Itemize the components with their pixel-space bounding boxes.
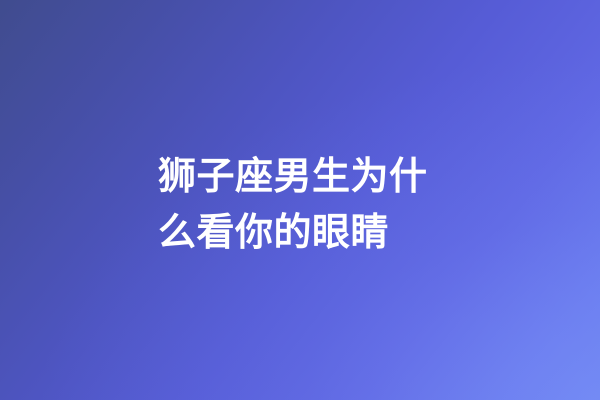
gradient-title-card: 狮子座男生为什么看你的眼睛 (0, 0, 600, 400)
page-title: 狮子座男生为什么看你的眼睛 (158, 148, 454, 260)
